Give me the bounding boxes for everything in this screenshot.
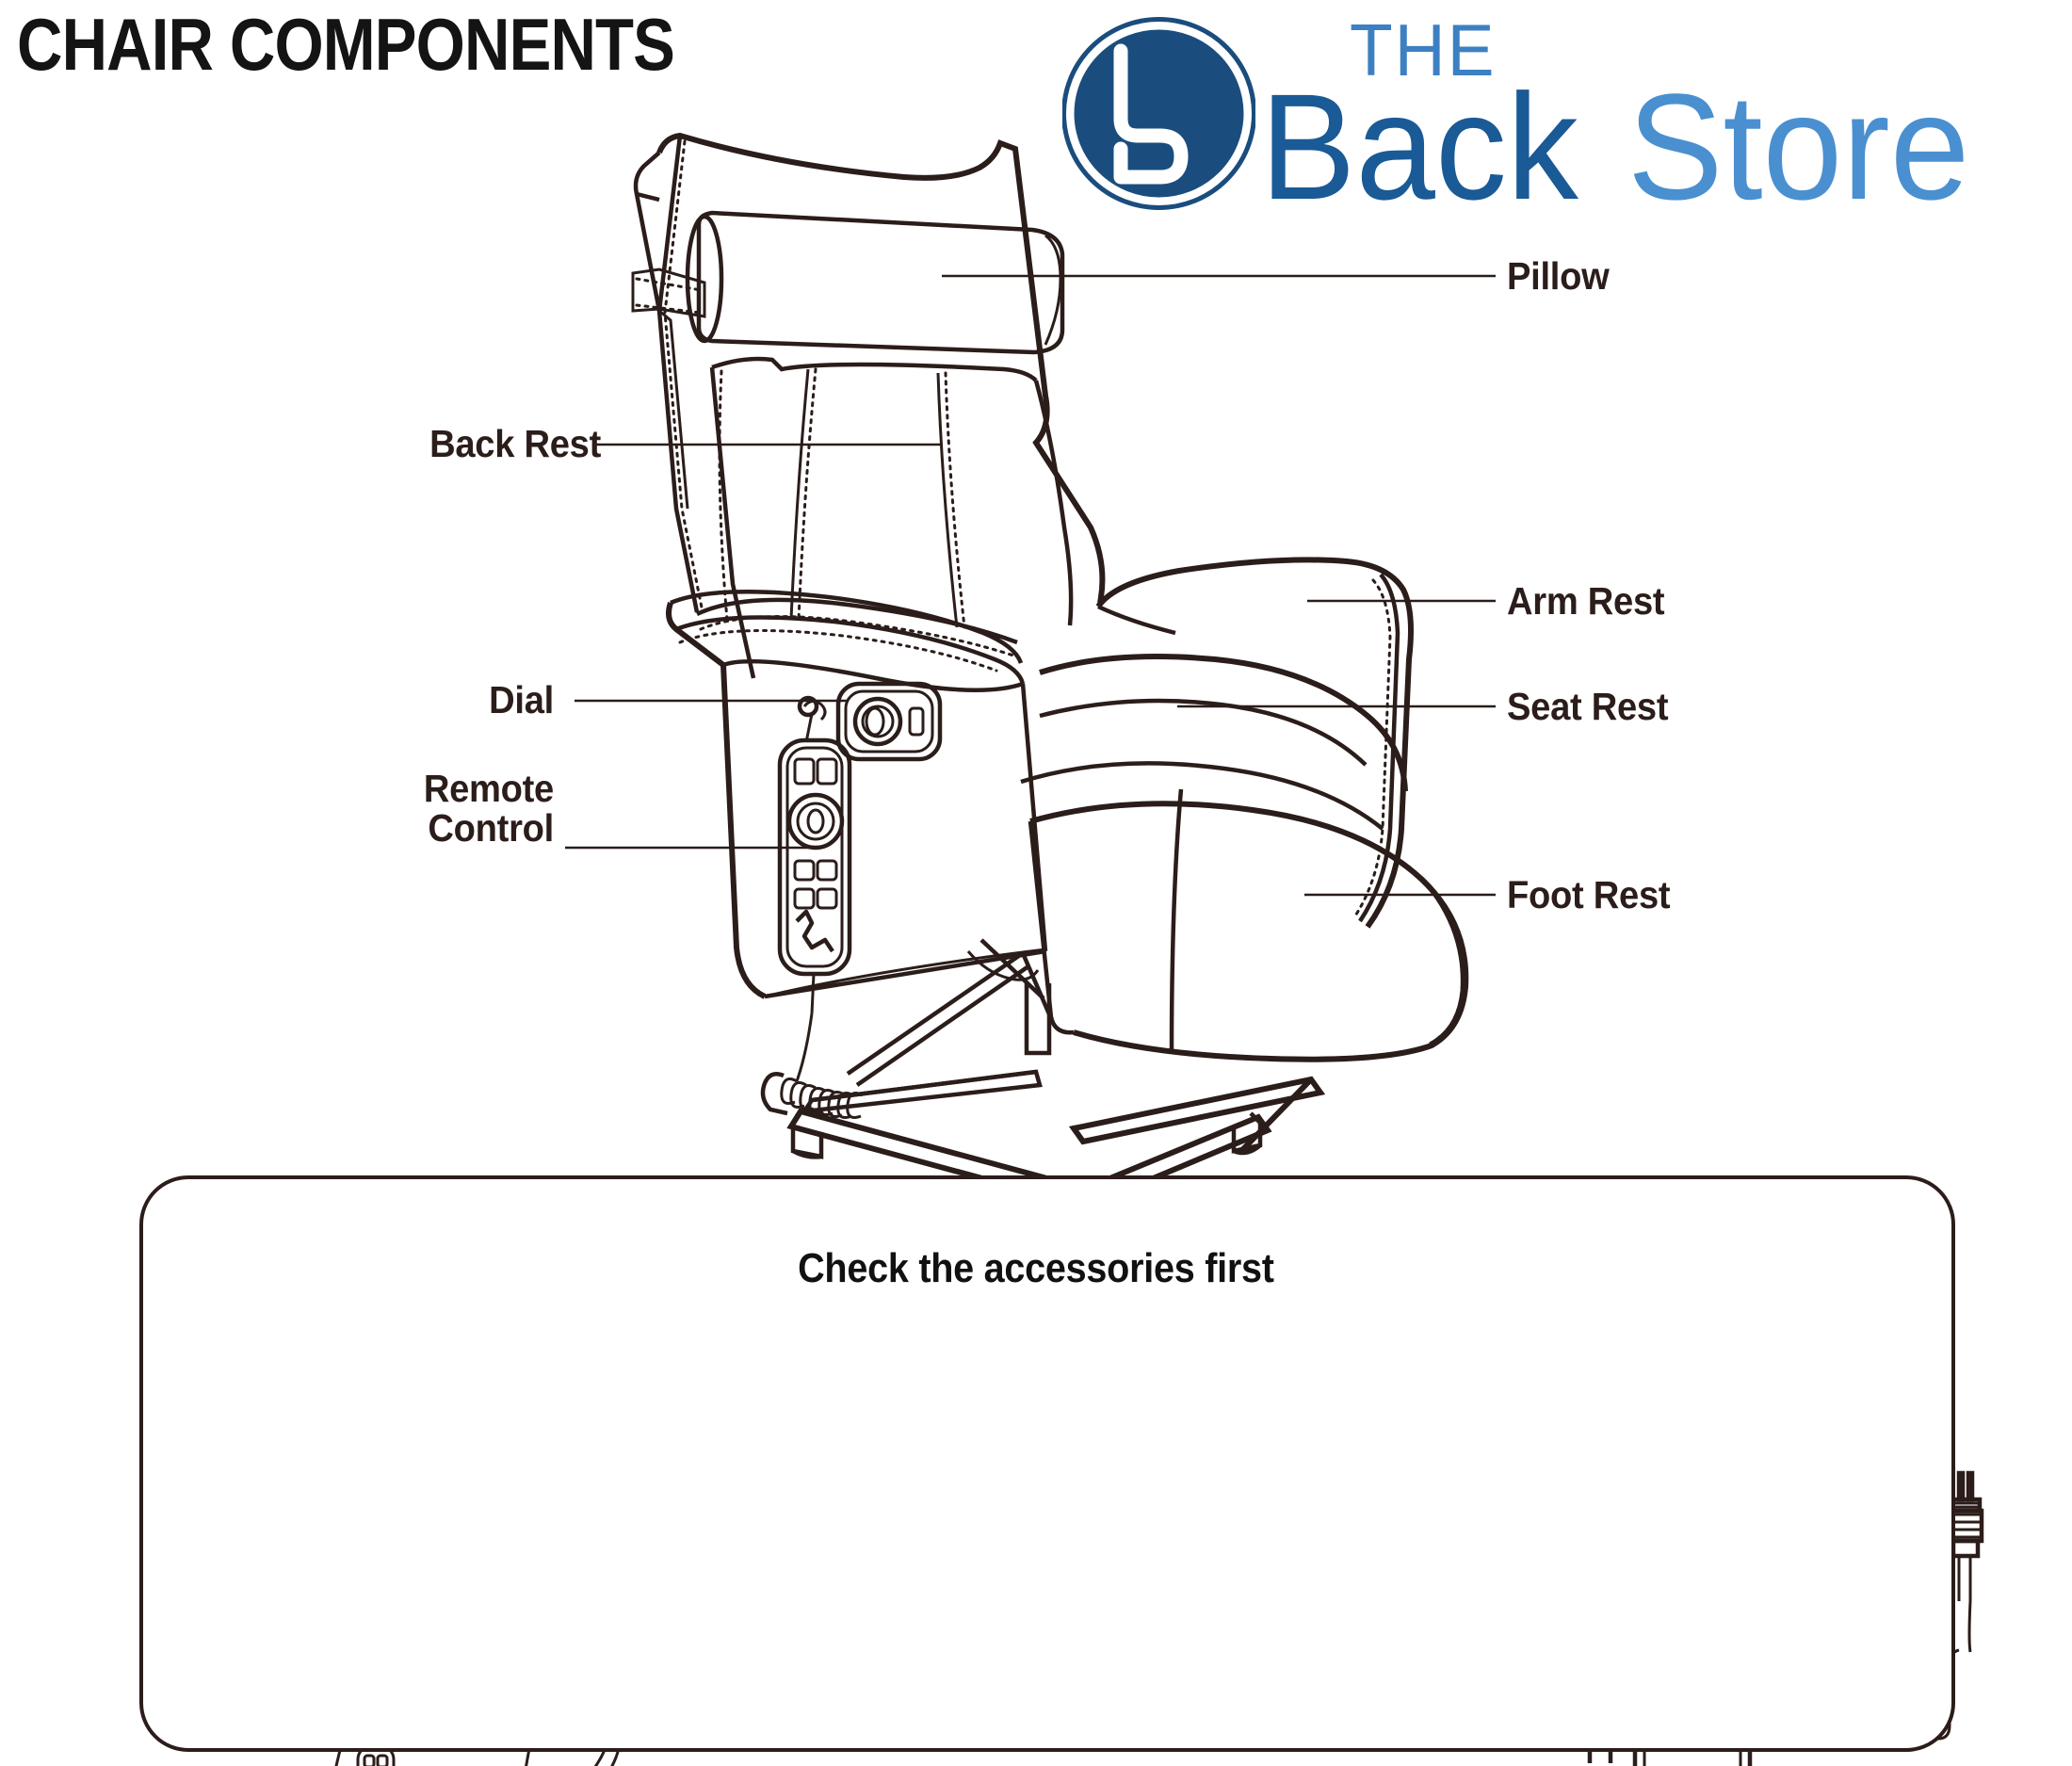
chair-components-diagram-page: CHAIR COMPONENTS THE Back Store [0,0,2072,1766]
callout-leader-lines [565,276,1496,895]
callout-label-dial: Dial [366,680,554,720]
accessories-panel-title: Check the accessories first [0,1245,2072,1292]
callout-label-back-rest: Back Rest [369,424,601,463]
callout-label-remote-control: Remote Control [366,769,554,848]
dial-control [838,684,940,759]
remote-control-handset [763,698,863,1118]
callout-label-arm-rest: Arm Rest [1507,581,1664,621]
callout-label-pillow: Pillow [1507,256,1609,296]
callout-label-foot-rest: Foot Rest [1507,875,1670,915]
callout-label-seat-rest: Seat Rest [1507,687,1668,726]
main-recliner-illustration [0,136,1465,1204]
